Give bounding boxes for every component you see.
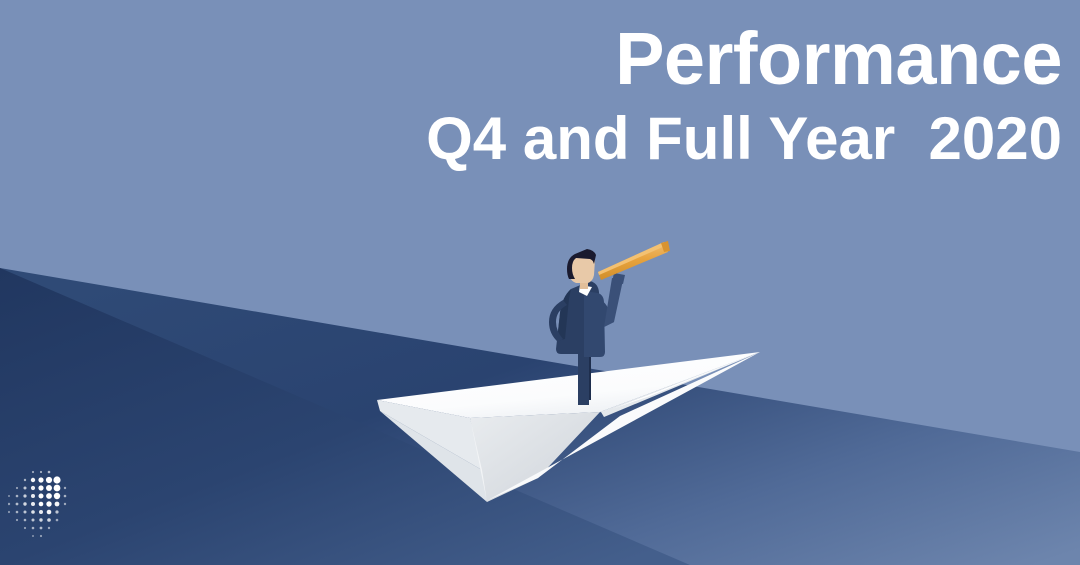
slide-title-block: Performance Q4 and Full Year 2020 <box>426 22 1062 175</box>
plane-left-wing-top <box>377 352 760 418</box>
figure-near-leg <box>578 352 589 405</box>
logo-dot-grid <box>8 471 66 537</box>
presentation-slide: Performance Q4 and Full Year 2020 <box>0 0 1080 565</box>
dot-matrix-circle-logo[interactable] <box>8 466 72 546</box>
figure-raised-forearm <box>604 278 623 327</box>
paper-plane <box>377 352 760 502</box>
telescope-highlight <box>598 242 665 275</box>
plane-keel-shade <box>470 412 600 502</box>
figure-hand <box>612 273 625 284</box>
page-subtitle: Q4 and Full Year 2020 <box>426 104 1062 175</box>
page-title: Performance <box>426 22 1062 96</box>
